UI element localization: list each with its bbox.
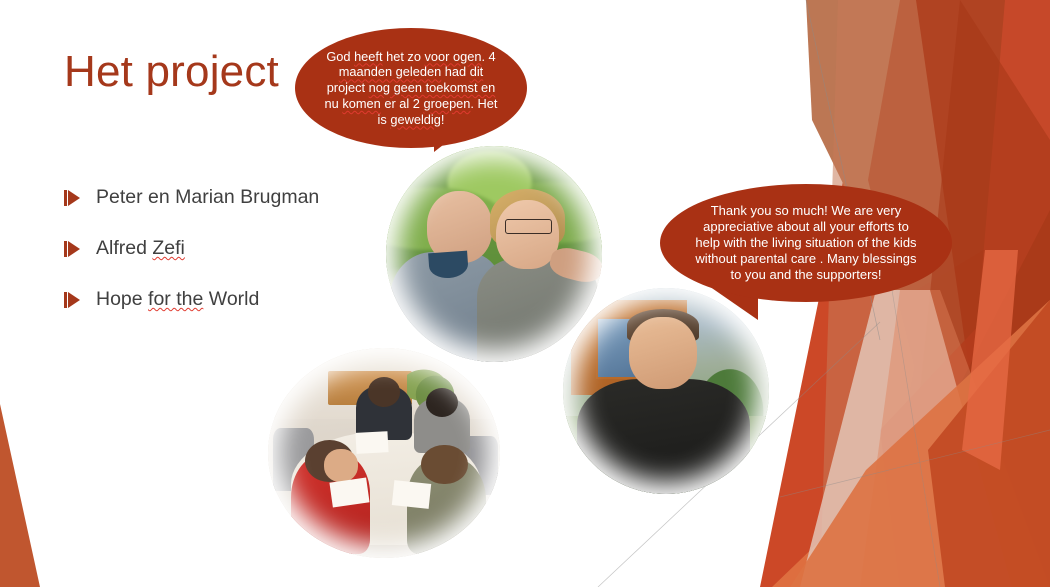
- bg-shape-r11: [800, 290, 1012, 587]
- bg-shape-r14: [928, 300, 1050, 587]
- bg-hairline-3: [780, 430, 1050, 497]
- speech-bubble-dutch: God heeft het zo voor ogen. 4 maanden ge…: [295, 28, 527, 148]
- list-item-label: Alfred Zefi: [96, 237, 185, 260]
- list-item-label: Hope for the World: [96, 288, 259, 311]
- list-item[interactable]: Alfred Zefi: [64, 231, 394, 266]
- bg-hairline-4: [892, 290, 940, 587]
- list-item[interactable]: Peter en Marian Brugman: [64, 180, 394, 215]
- bg-shape-r9: [880, 250, 1050, 587]
- list-item[interactable]: Hope for the World: [64, 282, 394, 317]
- triangle-bullet-icon: [64, 189, 86, 207]
- photo-kids-vignette: [268, 348, 500, 558]
- bg-shape-r2: [872, 0, 1050, 587]
- bg-shape-r7: [900, 0, 1050, 587]
- list-item-label: Peter en Marian Brugman: [96, 186, 319, 209]
- speech-bubble-dutch-text: God heeft het zo voor ogen. 4 maanden ge…: [299, 49, 524, 128]
- bg-shape-left-wedge: [0, 404, 40, 587]
- bg-shape-r12: [860, 290, 1050, 587]
- triangle-bullet-icon: [64, 240, 86, 258]
- page-title: Het project: [64, 48, 279, 96]
- speech-bubble-english-text: Thank you so much! We are very appreciat…: [673, 203, 938, 283]
- triangle-bullet-icon: [64, 291, 86, 309]
- bg-shape-r13: [790, 300, 1050, 587]
- slide-canvas: Het project Peter en Marian Brugman Alfr…: [0, 0, 1050, 587]
- bullet-list: Peter en Marian Brugman Alfred Zefi Hope…: [64, 180, 394, 333]
- bg-shape-r15: [962, 250, 1018, 470]
- bg-shape-r5: [955, 0, 1050, 587]
- photo-kids[interactable]: [268, 348, 500, 558]
- bg-shape-r8: [772, 320, 1050, 587]
- speech-bubble-english: Thank you so much! We are very appreciat…: [660, 184, 952, 302]
- bg-shape-r10: [952, 210, 1050, 587]
